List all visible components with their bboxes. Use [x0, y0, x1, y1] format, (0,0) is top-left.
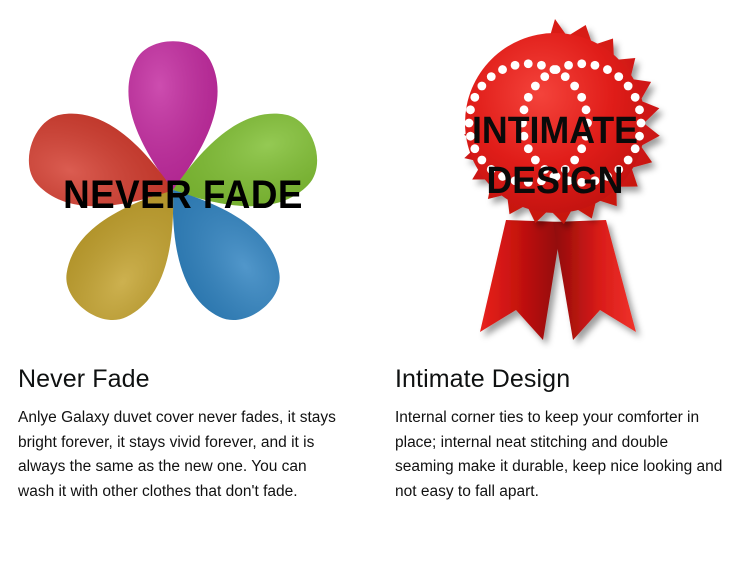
never-fade-media: NEVER FADE: [0, 0, 370, 358]
never-fade-caption: Never Fade Anlye Galaxy duvet cover neve…: [18, 364, 346, 504]
intimate-design-caption: Intimate Design Internal corner ties to …: [395, 364, 725, 504]
badge-disc: [465, 33, 645, 213]
feature-comparison-panel: NEVER FADE Never Fade Anlye Galaxy duvet…: [0, 0, 740, 561]
flower-logo-graphic: NEVER FADE: [8, 12, 358, 347]
rosette-badge-graphic: INTIMATE DESIGN: [410, 10, 700, 350]
ribbon-tail-left: [480, 220, 562, 340]
intimate-design-media: INTIMATE DESIGN: [370, 0, 740, 358]
feature-column-never-fade: NEVER FADE Never Fade Anlye Galaxy duvet…: [0, 0, 370, 561]
ribbon-tail-right: [553, 220, 636, 340]
feature-body-never-fade: Anlye Galaxy duvet cover never fades, it…: [18, 406, 346, 504]
ribbon-tails: [480, 220, 636, 340]
feature-title-never-fade: Never Fade: [18, 364, 346, 394]
feature-body-intimate-design: Internal corner ties to keep your comfor…: [395, 406, 725, 504]
feature-column-intimate-design: INTIMATE DESIGN Intimate Design Internal…: [370, 0, 740, 561]
feature-title-intimate-design: Intimate Design: [395, 364, 725, 394]
feature-columns: NEVER FADE Never Fade Anlye Galaxy duvet…: [0, 0, 740, 561]
